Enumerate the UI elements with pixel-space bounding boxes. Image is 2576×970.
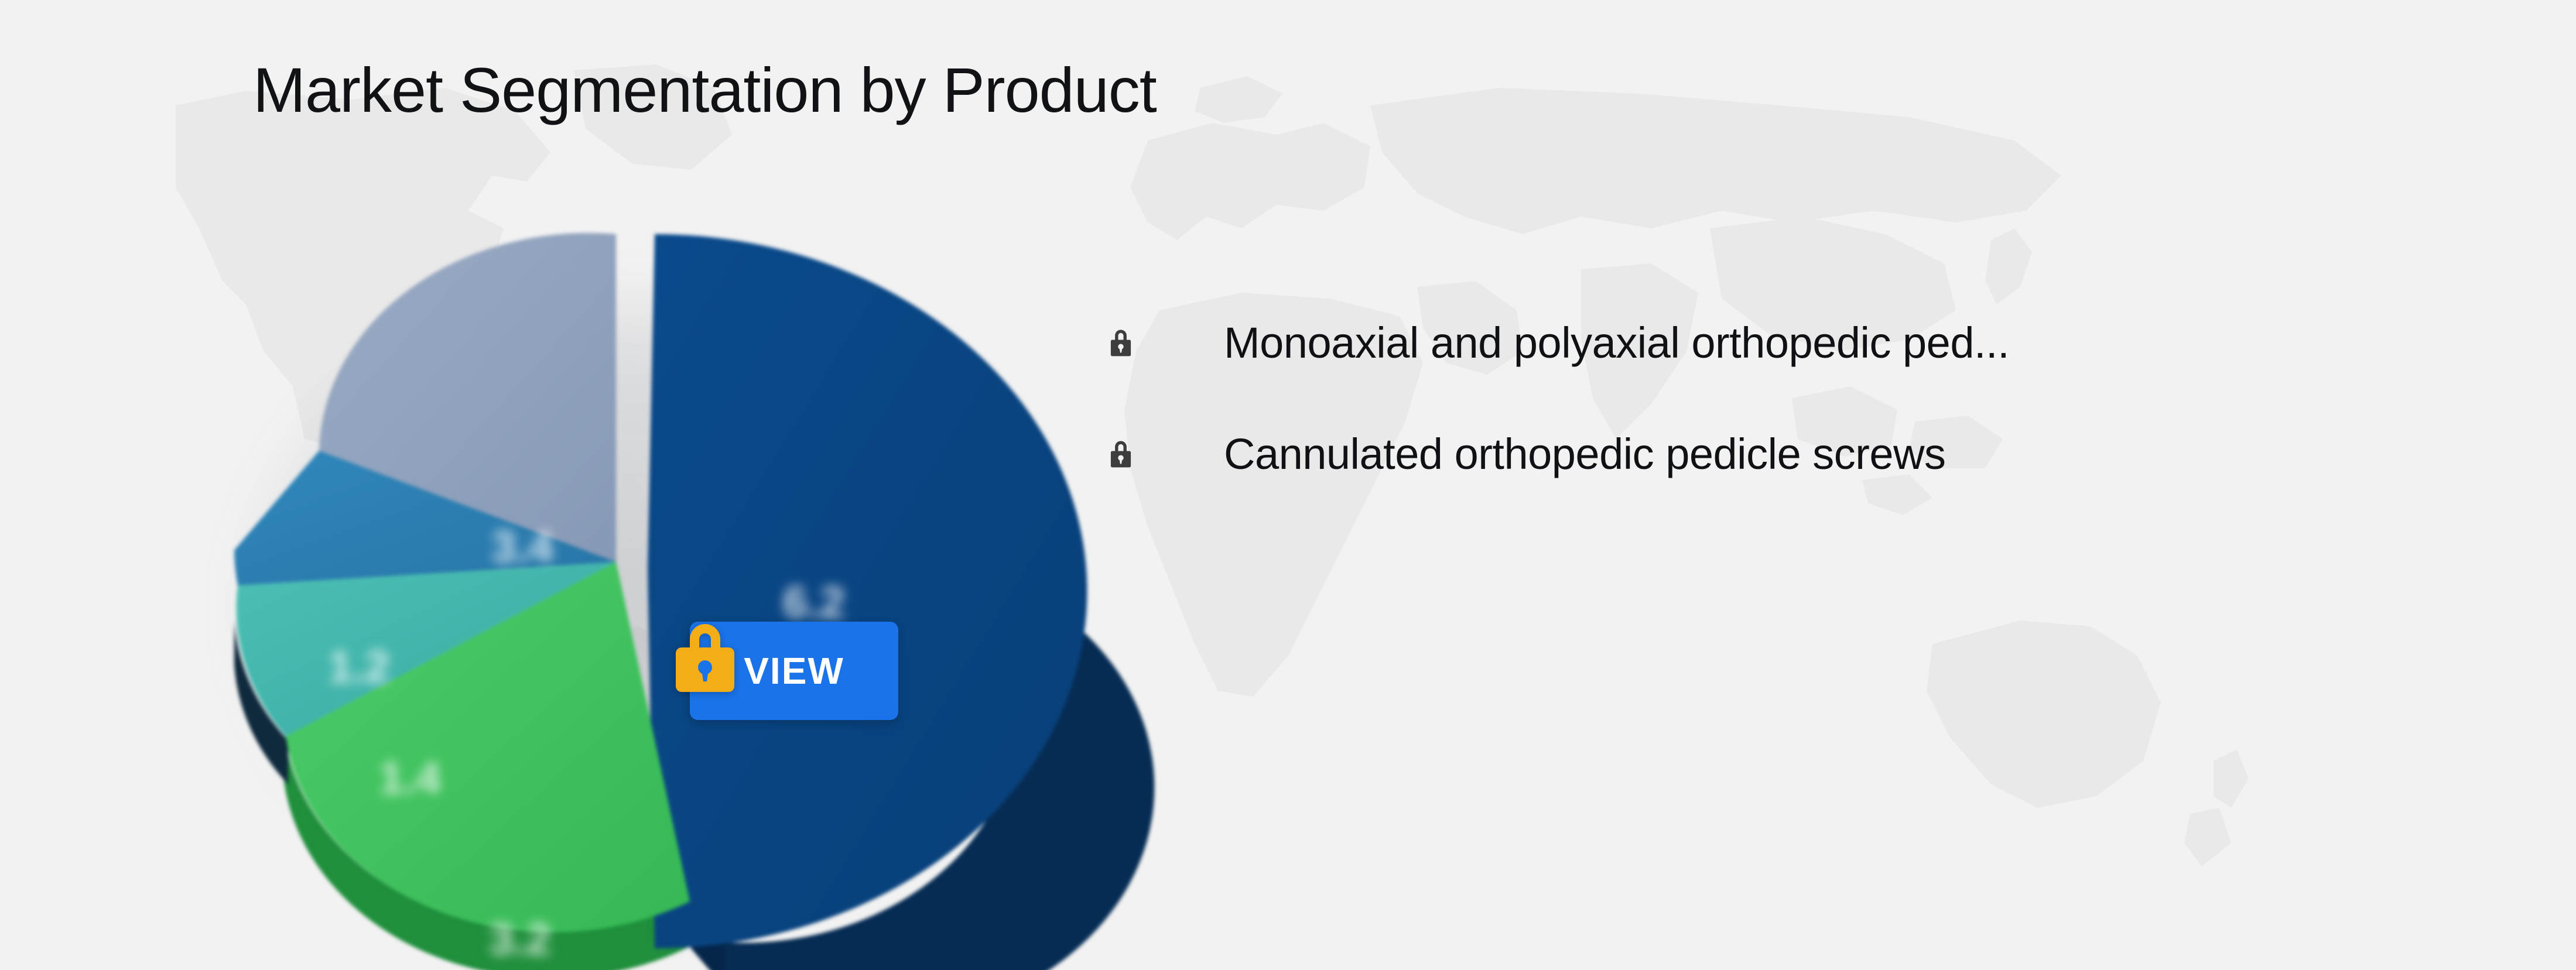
legend-list: Monoaxial and polyaxial orthopedic ped..… <box>1101 287 2448 509</box>
pie-slice-label-3: 1.2 <box>328 642 390 692</box>
legend-item-label: Monoaxial and polyaxial orthopedic ped..… <box>1224 318 2009 368</box>
legend-item-1[interactable]: Monoaxial and polyaxial orthopedic ped..… <box>1101 287 2448 398</box>
page-title: Market Segmentation by Product <box>253 59 1157 122</box>
legend-item-2[interactable]: Cannulated orthopedic pedicle screws <box>1101 398 2448 509</box>
view-cta-overlay[interactable]: VIEW <box>669 616 898 720</box>
lock-icon <box>1108 438 1134 469</box>
legend-item-label: Cannulated orthopedic pedicle screws <box>1224 429 1946 479</box>
pie-slice-label-4: 1.4 <box>379 753 441 803</box>
pie-chart: 6.2 3.4 1.2 1.4 3.2 VIEW <box>164 176 1054 948</box>
lock-icon <box>1108 327 1134 358</box>
pie-graphic: 6.2 3.4 1.2 1.4 3.2 <box>164 176 1054 948</box>
pie-slice-label-2: 3.4 <box>491 522 553 572</box>
view-button-label: VIEW <box>744 652 844 690</box>
pie-slices <box>234 233 1087 948</box>
padlock-icon <box>669 616 741 694</box>
pie-slice-label-5: 3.2 <box>489 914 551 964</box>
slide-canvas: Market Segmentation by Product <box>0 0 2576 970</box>
